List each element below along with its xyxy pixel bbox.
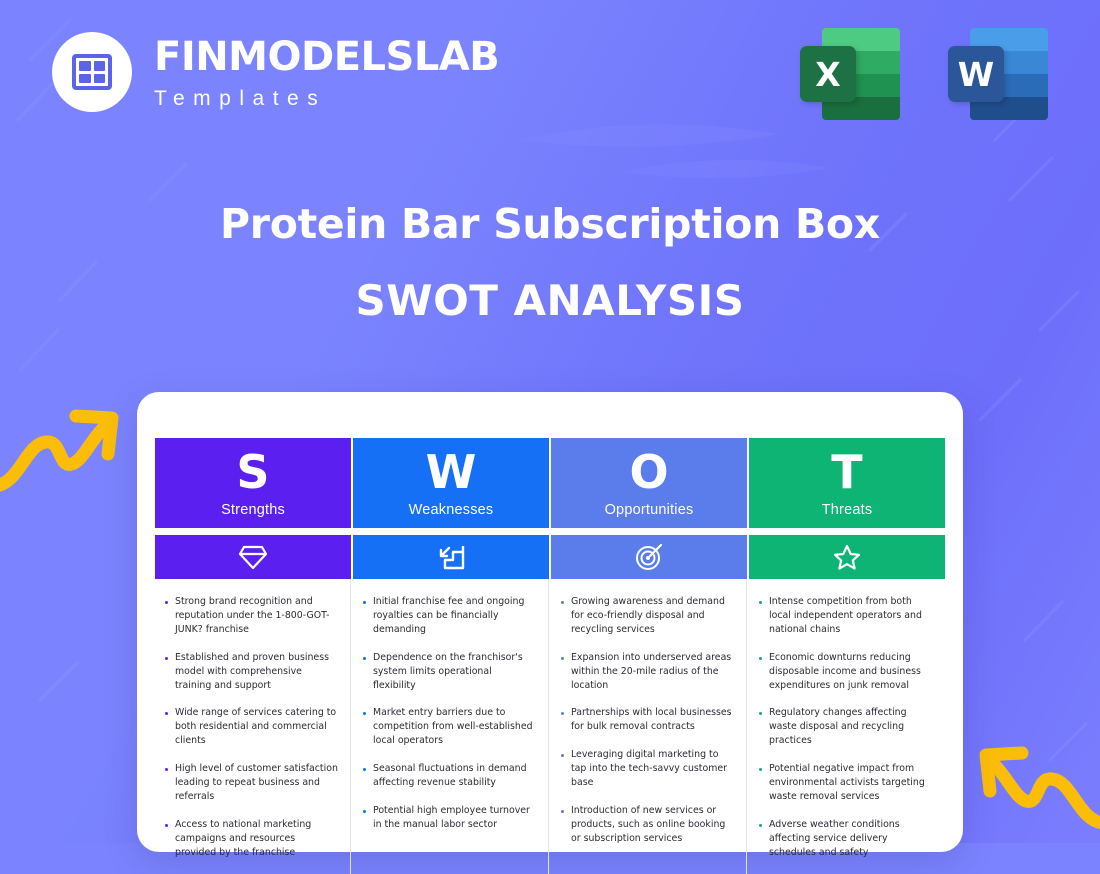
swot-header-strengths: S Strengths xyxy=(155,438,351,528)
list-item: Leveraging digital marketing to tap into… xyxy=(561,748,734,790)
word-letter: W xyxy=(948,46,1004,102)
brand-name: FINMODELSLAB xyxy=(154,37,499,77)
list-item: Expansion into underserved areas within … xyxy=(561,651,734,693)
bullet-dot xyxy=(363,601,366,604)
bullet-dot xyxy=(363,810,366,813)
bullet-dot xyxy=(561,754,564,757)
bullet-dot xyxy=(165,601,168,604)
bullet-dot xyxy=(759,601,762,604)
list-item: Growing awareness and demand for eco-fri… xyxy=(561,595,734,637)
bullet-dot xyxy=(759,824,762,827)
bullet-dot xyxy=(561,601,564,604)
list-item: Strong brand recognition and reputation … xyxy=(165,595,338,637)
bullet-dot xyxy=(759,768,762,771)
list-item: Potential negative impact from environme… xyxy=(759,762,933,804)
list-item: High level of customer satisfaction lead… xyxy=(165,762,338,804)
swot-header-weaknesses: W Weaknesses xyxy=(353,438,549,528)
bullet-dot xyxy=(363,657,366,660)
swot-letter-w: W xyxy=(426,449,477,495)
swot-label-strengths: Strengths xyxy=(221,502,285,518)
bullet-dot xyxy=(363,768,366,771)
list-item: Regulatory changes affecting waste dispo… xyxy=(759,706,933,748)
bullet-dot xyxy=(165,824,168,827)
list-item: Wide range of services catering to both … xyxy=(165,706,338,748)
descending-stairs-icon xyxy=(436,543,466,571)
swot-header-threats: T Threats xyxy=(749,438,945,528)
bullet-dot xyxy=(165,657,168,660)
swot-icon-cell-opportunities xyxy=(551,535,747,579)
bullet-dot xyxy=(759,712,762,715)
excel-icon: X xyxy=(800,28,900,120)
list-item: Dependence on the franchisor's system li… xyxy=(363,651,536,693)
decorative-arrow-up-icon xyxy=(0,398,122,493)
list-item: Intense competition from both local inde… xyxy=(759,595,933,637)
swot-body-row: Strong brand recognition and reputation … xyxy=(155,579,945,874)
excel-letter: X xyxy=(800,46,856,102)
logo-mark xyxy=(52,32,132,112)
page-subtitle: SWOT ANALYSIS xyxy=(0,276,1100,325)
swot-body-threats: Intense competition from both local inde… xyxy=(749,579,945,874)
list-item: Seasonal fluctuations in demand affectin… xyxy=(363,762,536,790)
bullet-dot xyxy=(759,657,762,660)
office-format-icons: X W xyxy=(800,28,1048,120)
list-item: Access to national marketing campaigns a… xyxy=(165,818,338,860)
swot-card: S Strengths W Weaknesses O Opportunities… xyxy=(137,392,963,852)
list-item: Adverse weather conditions affecting ser… xyxy=(759,818,933,860)
swot-icon-row xyxy=(155,528,945,579)
brand-logo: FINMODELSLAB Templates xyxy=(52,32,499,112)
word-icon: W xyxy=(948,28,1048,120)
bullet-dot xyxy=(165,768,168,771)
swot-letter-s: S xyxy=(236,449,269,495)
list-item: Economic downturns reducing disposable i… xyxy=(759,651,933,693)
bullet-dot xyxy=(165,712,168,715)
brand-subtitle: Templates xyxy=(154,88,499,109)
bullet-dot xyxy=(363,712,366,715)
swot-icon-cell-weaknesses xyxy=(353,535,549,579)
bullet-dot xyxy=(561,657,564,660)
swot-body-weaknesses: Initial franchise fee and ongoing royalt… xyxy=(353,579,549,874)
list-item: Market entry barriers due to competition… xyxy=(363,706,536,748)
swot-header-opportunities: O Opportunities xyxy=(551,438,747,528)
swot-header-row: S Strengths W Weaknesses O Opportunities… xyxy=(155,438,945,528)
grid-squares-icon xyxy=(72,54,112,90)
diamond-icon xyxy=(238,543,268,571)
page-title: Protein Bar Subscription Box xyxy=(0,200,1100,248)
list-item: Introduction of new services or products… xyxy=(561,804,734,846)
list-item: Established and proven business model wi… xyxy=(165,651,338,693)
list-item: Partnerships with local businesses for b… xyxy=(561,706,734,734)
target-icon xyxy=(634,543,664,571)
bullet-dot xyxy=(561,810,564,813)
bullet-dot xyxy=(561,712,564,715)
swot-icon-cell-threats xyxy=(749,535,945,579)
swot-label-threats: Threats xyxy=(822,502,873,518)
swot-label-opportunities: Opportunities xyxy=(605,502,694,518)
swot-label-weaknesses: Weaknesses xyxy=(409,502,494,518)
list-item: Potential high employee turnover in the … xyxy=(363,804,536,832)
decorative-arrow-down-icon xyxy=(976,735,1100,830)
star-icon xyxy=(832,543,862,571)
list-item: Initial franchise fee and ongoing royalt… xyxy=(363,595,536,637)
swot-body-opportunities: Growing awareness and demand for eco-fri… xyxy=(551,579,747,874)
swot-letter-t: T xyxy=(831,449,862,495)
swot-icon-cell-strengths xyxy=(155,535,351,579)
swot-body-strengths: Strong brand recognition and reputation … xyxy=(155,579,351,874)
swot-letter-o: O xyxy=(629,449,668,495)
